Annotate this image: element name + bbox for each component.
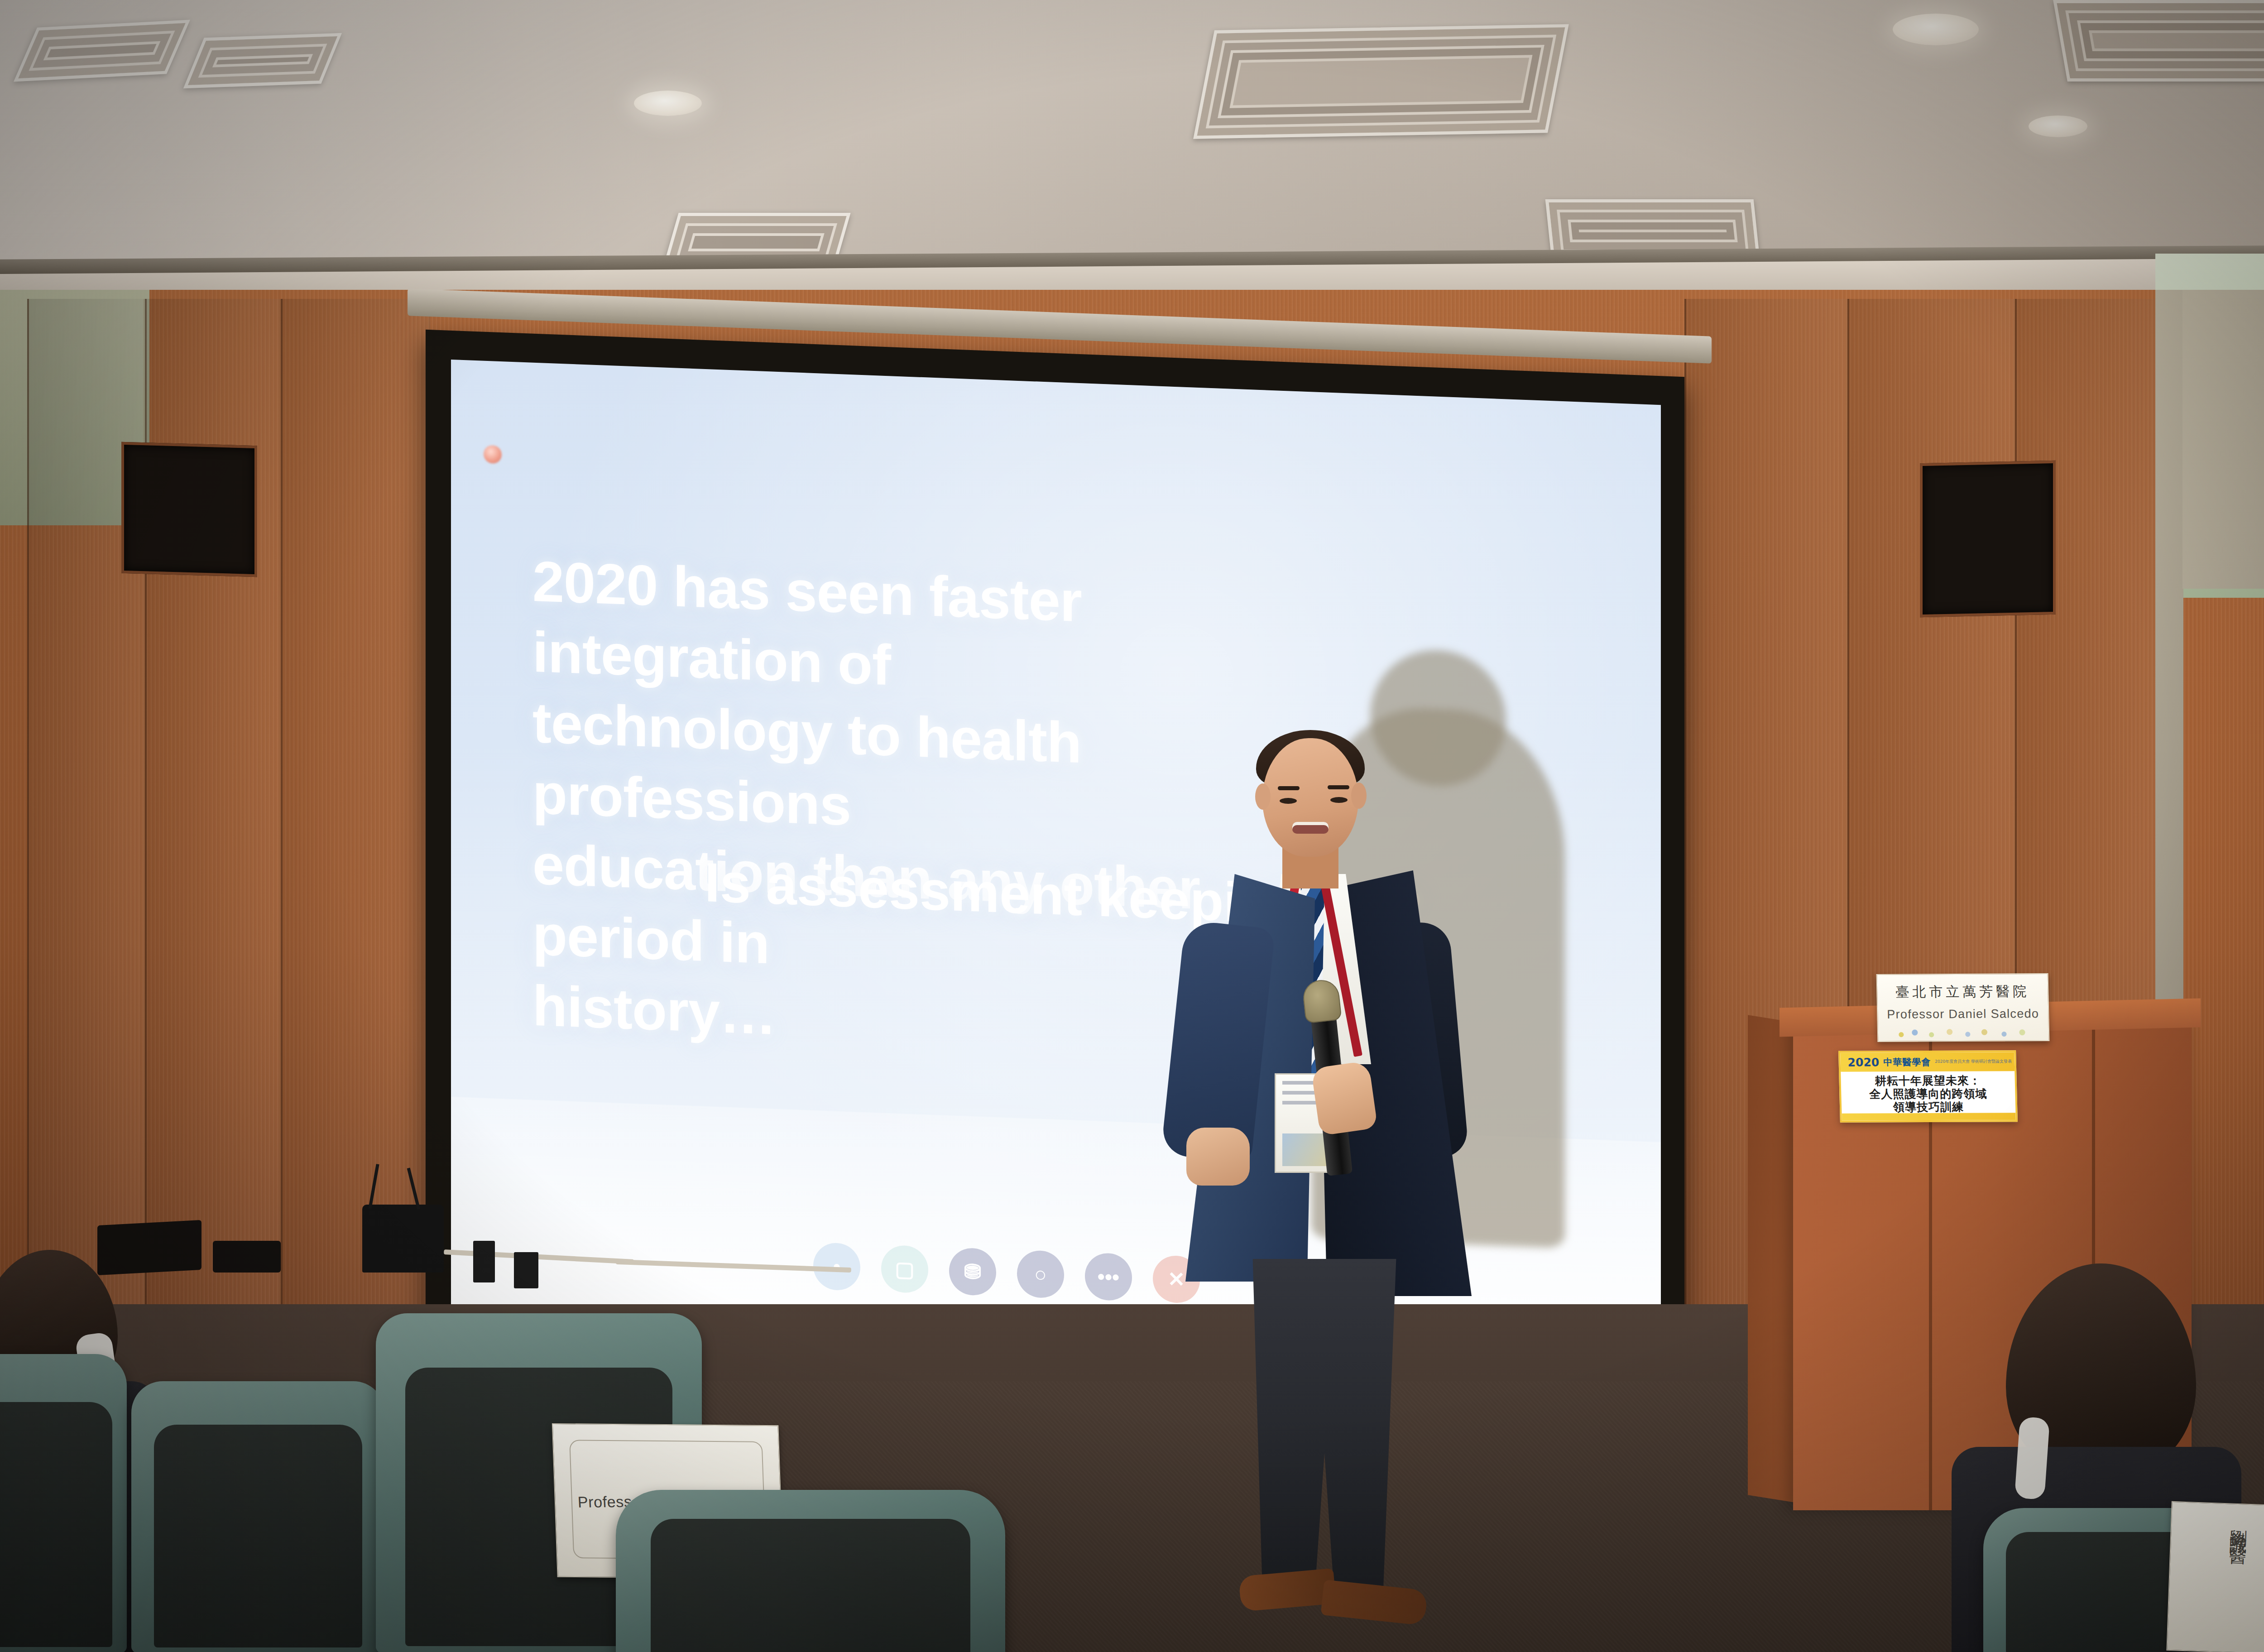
presenter-ear <box>1351 783 1367 809</box>
podium-event-banner: 2020 中華醫學會 2020年度會員大會 學術研討會暨論文發表 耕耘十年展望未… <box>1838 1050 2018 1122</box>
floor-equipment <box>213 1241 281 1273</box>
pen-icon[interactable]: ╱ <box>552 1249 577 1274</box>
camera-icon[interactable]: ▢ <box>881 1245 928 1294</box>
presenter-eyebrow <box>1278 786 1300 790</box>
auditorium-chair <box>616 1490 1005 1652</box>
presenter-daniel-salcedo <box>1159 729 1503 1544</box>
podium-nameplate: 臺北市立萬芳醫院 Professor Daniel Salcedo <box>1876 973 2050 1042</box>
chair-name-card: 劉峰誠 醫 <box>2166 1501 2264 1652</box>
conference-room-photo: 2020 has seen faster integration of tech… <box>0 0 2264 1652</box>
banner-title-line: 全人照護導向的跨領域 <box>1845 1087 2012 1100</box>
presenter-ear <box>1255 783 1271 810</box>
wall-speaker-icon <box>121 442 257 577</box>
face-mask-icon <box>2015 1417 2050 1500</box>
presenter-left-hand <box>1186 1128 1250 1186</box>
banner-title-line: 領導技巧訓練 <box>1845 1100 2012 1114</box>
ceiling-shading <box>0 0 2264 290</box>
auditorium-chair <box>0 1354 127 1652</box>
auditorium-chair <box>131 1381 385 1652</box>
presenter-eye <box>1280 798 1297 804</box>
banner-year: 2020 <box>1847 1056 1879 1069</box>
banner-title: 耕耘十年展望未來： 全人照護導向的跨領域 領導技巧訓練 <box>1841 1071 2015 1115</box>
presenter-trousers <box>1243 1259 1406 1594</box>
door-transom <box>2182 290 2264 589</box>
chair-backrest <box>651 1519 970 1652</box>
presenter-eyebrow <box>1328 785 1349 789</box>
nameplate-presenter-name: Professor Daniel Salcedo <box>1887 1007 2039 1022</box>
floor-equipment <box>97 1220 201 1275</box>
banner-footer-stripe <box>1842 1113 2015 1120</box>
floral-decoration-icon <box>1889 1024 2041 1039</box>
presenter-right-hand <box>1311 1061 1378 1136</box>
recording-indicator-icon <box>484 445 502 464</box>
banner-header: 2020 中華醫學會 2020年度會員大會 學術研討會暨論文發表 <box>1840 1052 2015 1071</box>
wall-speaker-icon <box>1920 461 2056 617</box>
nameplate-institution: 臺北市立萬芳醫院 <box>1895 982 2030 1002</box>
banner-fine-print: 2020年度會員大會 學術研討會暨論文發表 <box>1935 1060 2012 1064</box>
chair-backrest <box>0 1402 112 1647</box>
power-adapter <box>473 1241 495 1282</box>
more-icon[interactable]: ••• <box>1085 1252 1132 1301</box>
participants-icon[interactable]: ⛃ <box>949 1247 996 1296</box>
podium-side <box>1748 1015 1798 1503</box>
power-adapter <box>514 1252 538 1288</box>
door-jamb <box>2155 290 2183 1032</box>
banner-title-line: 耕耘十年展望未來： <box>1844 1074 2011 1087</box>
presenter-mouth <box>1292 822 1329 834</box>
equipment-bag <box>362 1205 444 1273</box>
banner-organization: 中華醫學會 <box>1883 1056 1931 1068</box>
chat-icon[interactable]: ○ <box>1017 1250 1064 1299</box>
name-card-text: 劉峰誠 醫 <box>2227 1516 2251 1538</box>
chair-backrest <box>154 1425 362 1647</box>
wall-panel <box>281 299 430 1304</box>
presenter-eye <box>1330 797 1348 803</box>
